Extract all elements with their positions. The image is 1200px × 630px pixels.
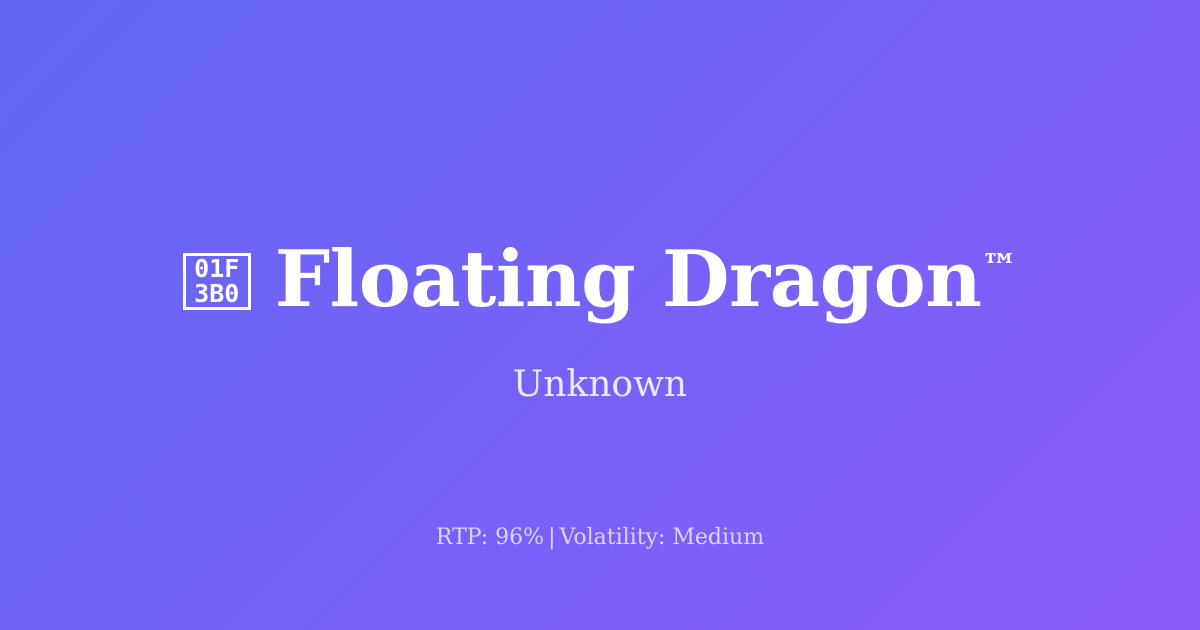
volatility-value: Volatility: Medium xyxy=(560,525,765,550)
rtp-value: RTP: 96% xyxy=(436,525,544,550)
title-row: 01F 3B0 Floating Dragon™ xyxy=(0,232,1200,328)
page-title: Floating Dragon™ xyxy=(275,241,1018,319)
trademark-symbol: ™ xyxy=(981,246,1017,288)
slot-machine-icon-codepoint-bottom: 3B0 xyxy=(194,281,239,306)
provider-label: Unknown xyxy=(0,367,1200,403)
slot-machine-icon-codepoint-top: 01F xyxy=(194,256,239,281)
game-stats: RTP: 96%|Volatility: Medium xyxy=(0,527,1200,549)
slot-machine-icon: 01F 3B0 xyxy=(183,253,251,310)
stats-separator: | xyxy=(544,525,559,550)
game-title-text: Floating Dragon xyxy=(275,234,982,325)
game-promo-card: 01F 3B0 Floating Dragon™ Unknown RTP: 96… xyxy=(0,0,1200,630)
